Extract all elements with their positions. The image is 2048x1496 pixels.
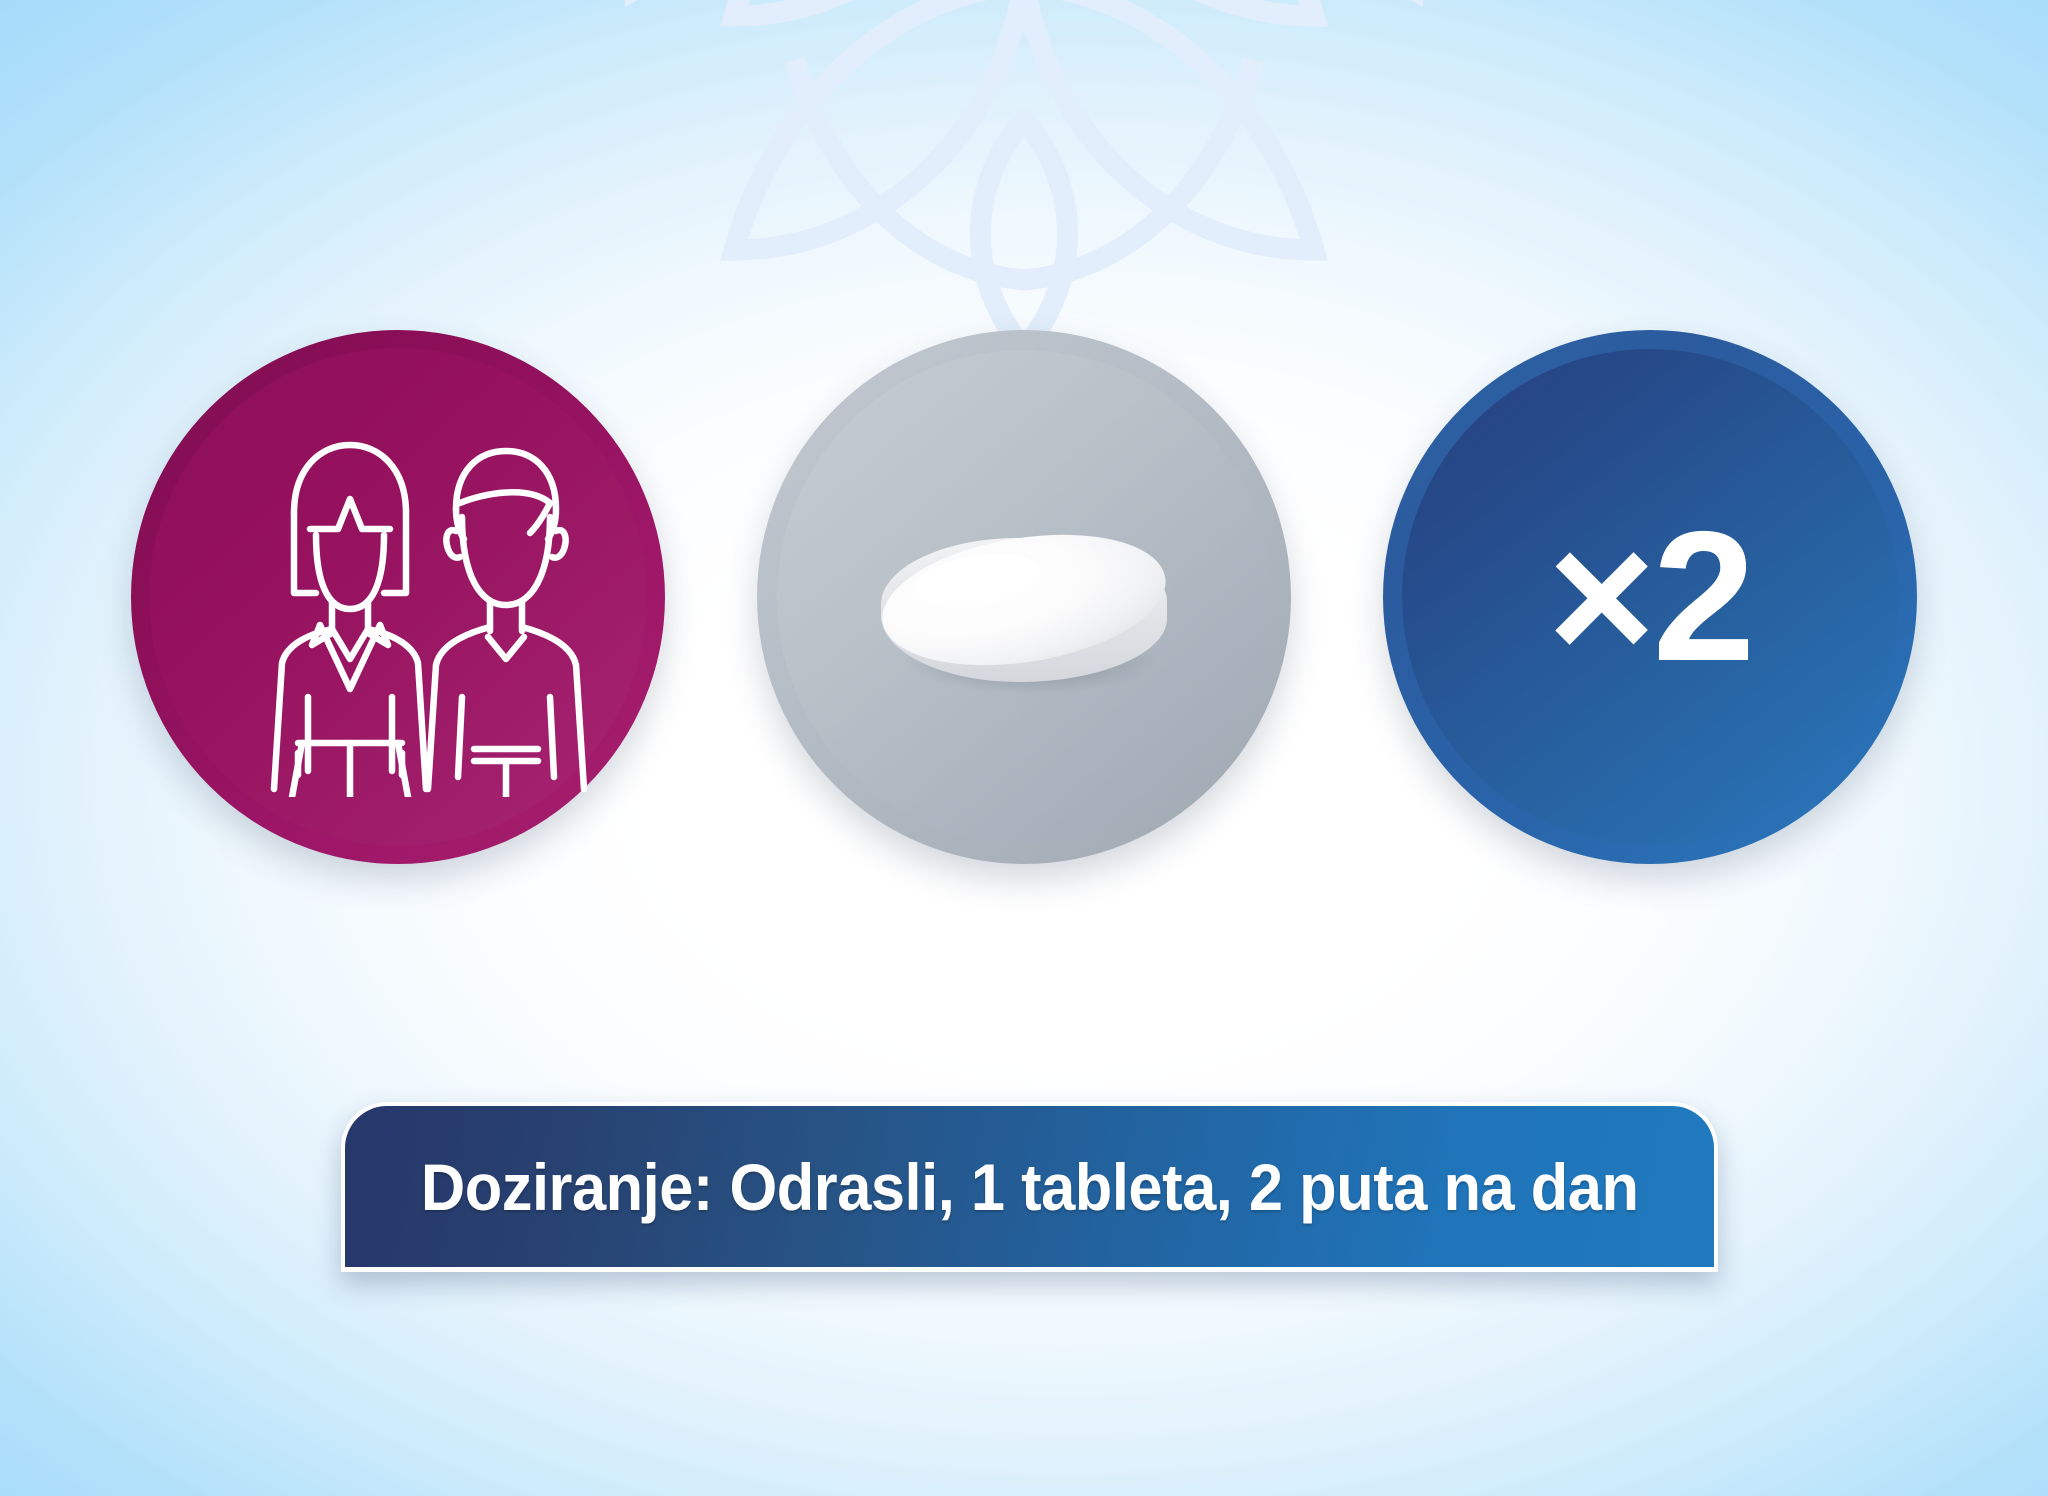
circle-tablet [757, 330, 1291, 864]
dosage-banner: Doziranje: Odrasli, 1 tableta, 2 puta na… [341, 1102, 1718, 1272]
frequency-label: ×2 [1548, 505, 1753, 690]
white-oval-tablet-icon [859, 492, 1189, 722]
dosage-infographic: ×2 Doziranje: Odrasli, 1 tableta, 2 puta… [0, 0, 2048, 1496]
circle-frequency-inner: ×2 [1402, 349, 1898, 845]
circle-tablet-inner [777, 350, 1271, 844]
icon-circle-row: ×2 [0, 330, 2048, 910]
adults-couple-icon [198, 397, 598, 797]
circle-frequency: ×2 [1383, 330, 1917, 864]
circle-adults [131, 330, 665, 864]
dosage-banner-text: Doziranje: Odrasli, 1 tableta, 2 puta na… [421, 1149, 1639, 1225]
circle-adults-inner [149, 348, 647, 846]
dosage-banner-body: Doziranje: Odrasli, 1 tableta, 2 puta na… [341, 1102, 1718, 1272]
